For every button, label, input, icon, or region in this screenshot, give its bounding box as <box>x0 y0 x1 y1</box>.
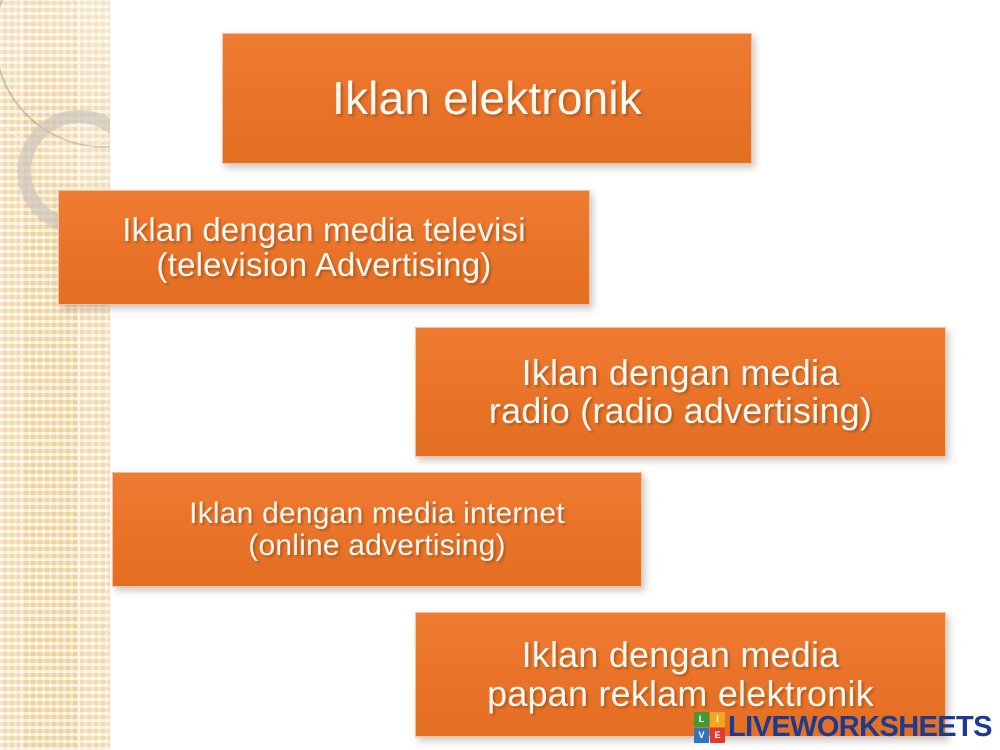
decorative-sidebar <box>0 0 110 750</box>
logo-tile-e: E <box>710 728 725 743</box>
logo-tile-i: I <box>710 712 725 727</box>
callout-radio-line1: Iklan dengan media <box>489 354 872 392</box>
callout-online: Iklan dengan media internet (online adve… <box>112 472 642 587</box>
callout-online-line2: (online advertising) <box>189 530 565 562</box>
callout-billboard-line2: papan reklam elektronik <box>487 675 874 713</box>
callout-television-line1: Iklan dengan media televisi <box>122 213 525 248</box>
logo-tile-l: L <box>694 712 709 727</box>
logo-tile-v: V <box>694 728 709 743</box>
page-title: Iklan elektronik <box>222 33 752 164</box>
liveworksheets-brand-text: LIVEWORKSHEETS <box>728 713 992 742</box>
callout-radio: Iklan dengan media radio (radio advertis… <box>415 327 946 457</box>
callout-television-line2: (television Advertising) <box>122 248 525 283</box>
slide-canvas: Iklan elektronik Iklan dengan media tele… <box>0 0 1000 750</box>
liveworksheets-logo-icon: L I V E <box>694 712 725 743</box>
callout-radio-line2: radio (radio advertising) <box>489 392 872 430</box>
page-title-text: Iklan elektronik <box>237 74 737 123</box>
callout-billboard-line1: Iklan dengan media <box>487 636 874 674</box>
liveworksheets-watermark: L I V E LIVEWORKSHEETS <box>694 712 992 743</box>
callout-online-line1: Iklan dengan media internet <box>189 498 565 530</box>
callout-television: Iklan dengan media televisi (television … <box>58 190 590 305</box>
